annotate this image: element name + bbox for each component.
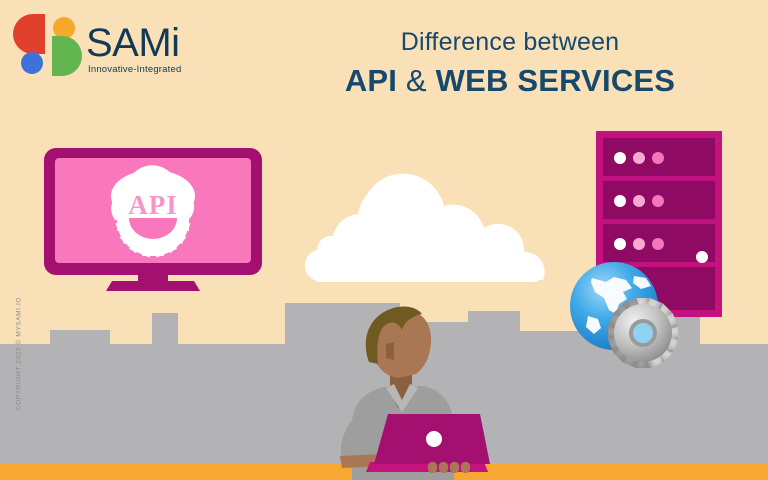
person-ear [386, 342, 394, 360]
server-led [633, 238, 645, 250]
sami-logo-text: SAMi Innovative-Integrated [86, 23, 181, 75]
headline-api: API [345, 63, 397, 98]
logo-red-half-disc-icon [13, 14, 45, 54]
logo-wordmark: SAMi [86, 23, 181, 63]
poster-canvas: COPYRIGHT 2022 © MYSAMI.IO SAMi Innovati… [0, 0, 768, 480]
person-with-laptop-illustration [312, 304, 498, 480]
logo-blue-circle-icon [21, 52, 43, 74]
headline-web-services: WEB SERVICES [436, 63, 676, 98]
logo-tagline: Innovative-Integrated [88, 65, 181, 75]
server-led [614, 195, 626, 207]
headline-subtitle: Difference between [300, 28, 720, 57]
laptop-logo-dot [426, 431, 442, 447]
server-led [633, 152, 645, 164]
globe-gear-illustration [566, 258, 684, 370]
server-led [652, 195, 664, 207]
logo-green-half-disc-icon [52, 36, 82, 76]
headline-main: API & WEB SERVICES [300, 63, 720, 99]
server-lone-led [696, 251, 708, 263]
server-led [652, 152, 664, 164]
sami-logo-mark [14, 12, 82, 78]
monitor-illustration: API [44, 148, 262, 298]
gear-icon [608, 298, 678, 368]
server-led [614, 152, 626, 164]
server-led [614, 238, 626, 250]
server-led [633, 195, 645, 207]
server-led [652, 238, 664, 250]
cloud-illustration [296, 172, 556, 290]
cloud-shape [305, 174, 545, 280]
api-screen-text: API [128, 190, 178, 220]
page-title: Difference between API & WEB SERVICES [300, 28, 720, 99]
headline-ampersand: & [397, 63, 436, 98]
logo-orange-circle-icon [53, 17, 75, 39]
copyright-text: COPYRIGHT 2022 © MYSAMI.IO [16, 294, 23, 414]
